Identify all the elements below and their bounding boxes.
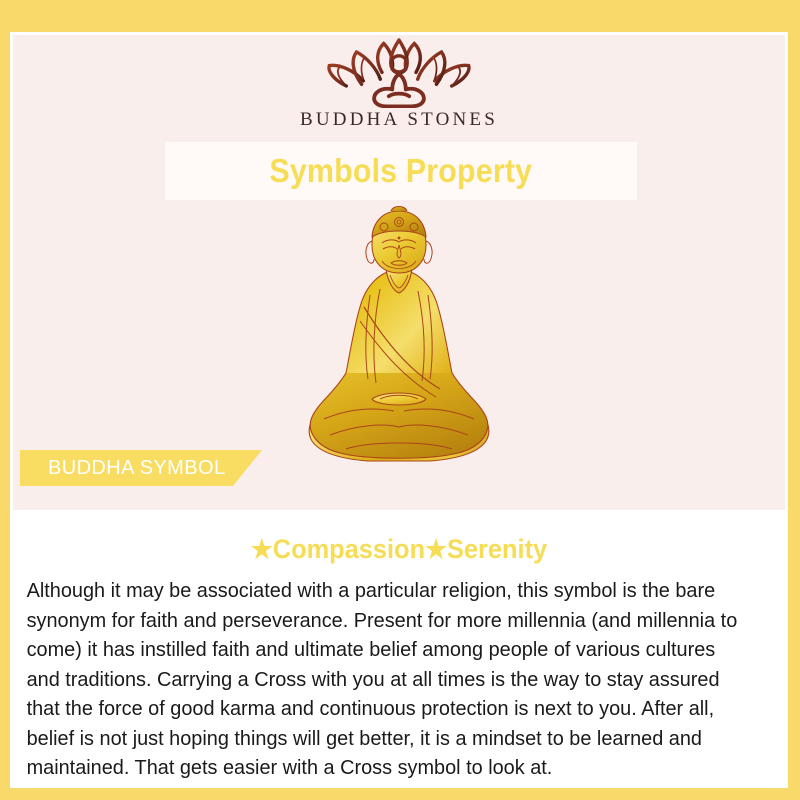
brand-name: BUDDHA STONES xyxy=(300,109,498,131)
attributes-subtitle: ★Compassion★Serenity xyxy=(36,510,762,565)
description-paragraph: Although it may be associated with a par… xyxy=(13,565,762,783)
star-icon-right: ★ xyxy=(425,534,447,564)
poster-page: BUDDHA STONES Symbols Property xyxy=(0,0,800,800)
attribute-compassion: Compassion xyxy=(273,534,425,564)
brand-header: BUDDHA STONES xyxy=(13,35,785,139)
page-title: Symbols Property xyxy=(270,152,533,190)
attribute-serenity: Serenity xyxy=(447,534,547,564)
golden-buddha-statue-image xyxy=(294,203,504,493)
title-band: Symbols Property xyxy=(165,142,637,200)
star-icon-left: ★ xyxy=(251,534,273,564)
body-section: ★Compassion★Serenity Although it may be … xyxy=(13,510,785,785)
section-ribbon: BUDDHA SYMBOL xyxy=(20,450,262,486)
lotus-meditation-logo-icon xyxy=(314,35,484,107)
ribbon-label: BUDDHA SYMBOL xyxy=(48,457,225,480)
content-panel: BUDDHA STONES Symbols Property xyxy=(13,35,785,785)
